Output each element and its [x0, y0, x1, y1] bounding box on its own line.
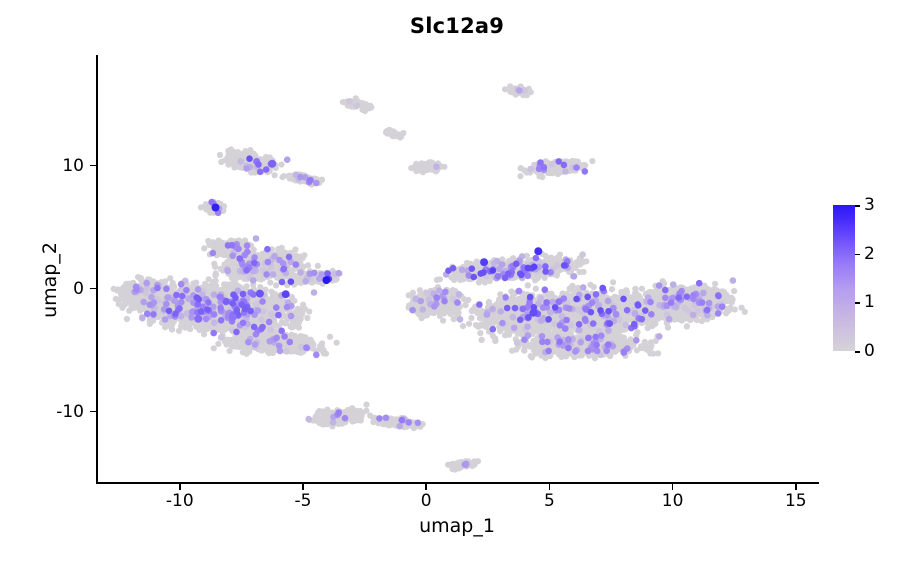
colorbar-tick-label: 0: [864, 341, 875, 361]
x-tick-mark: [179, 484, 181, 490]
x-tick-mark: [549, 484, 551, 490]
colorbar-tick-mark: [855, 302, 860, 304]
colorbar-tick-label: 1: [864, 292, 875, 312]
x-tick-mark: [795, 484, 797, 490]
y-tick-mark: [90, 165, 96, 167]
colorbar-tick-mark: [855, 205, 860, 207]
figure-canvas: Slc12a9 -10-5051015 -10010 umap_1 umap_2…: [0, 0, 911, 562]
scatter-plot-points: [96, 55, 818, 483]
x-axis-label: umap_1: [96, 515, 818, 537]
x-tick-mark: [302, 484, 304, 490]
x-tick-mark: [425, 484, 427, 490]
colorbar-tick-label: 3: [864, 195, 875, 215]
x-tick-label: -5: [295, 491, 312, 511]
x-tick-label: 15: [785, 491, 807, 511]
plot-title: Slc12a9: [96, 14, 818, 38]
colorbar: 0123: [833, 205, 909, 351]
x-tick-label: 5: [544, 491, 555, 511]
y-tick-label: 10: [62, 156, 84, 176]
colorbar-tick-label: 2: [864, 244, 875, 264]
points-expressed: [131, 86, 736, 468]
y-tick-mark: [90, 288, 96, 290]
points-unexpressed: [111, 83, 748, 473]
y-tick-mark: [90, 411, 96, 413]
x-tick-label: 0: [421, 491, 432, 511]
colorbar-tick-mark: [855, 351, 860, 353]
x-tick-mark: [672, 484, 674, 490]
y-tick-label: -10: [56, 402, 84, 422]
y-tick-label: 0: [73, 279, 84, 299]
colorbar-tick-mark: [855, 254, 860, 256]
y-axis-label: umap_2: [39, 200, 61, 360]
x-tick-label: 10: [662, 491, 684, 511]
colorbar-gradient: [833, 205, 855, 351]
x-tick-label: -10: [166, 491, 194, 511]
